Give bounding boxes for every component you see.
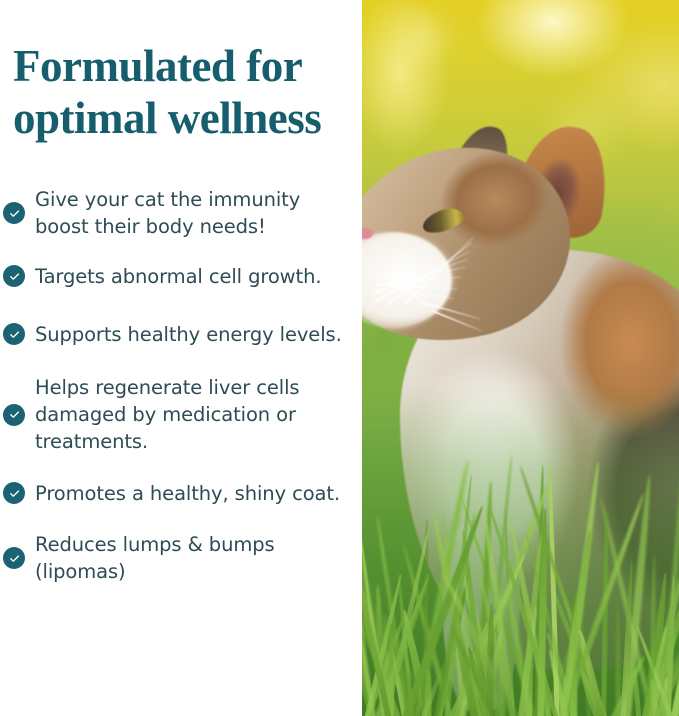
list-item-label: Supports healthy energy levels. [35,321,362,348]
cat-photo-scene [362,0,679,716]
list-item: Targets abnormal cell growth. [0,256,362,296]
page-title-line-1: Formulated for [13,40,353,92]
list-item-label: Targets abnormal cell growth. [35,263,362,290]
check-circle-icon [3,323,25,345]
list-item: Helps regenerate liver cells damaged by … [0,374,362,455]
list-item-label: Give your cat the immunity boost their b… [35,186,362,240]
grass-foreground [362,386,679,716]
page-title-line-2: optimal wellness [13,92,353,144]
product-benefits-panel: Formulated for optimal wellness Give you… [0,0,679,716]
list-item: Give your cat the immunity boost their b… [0,186,362,240]
check-circle-icon [3,404,25,426]
cat-photo [362,0,679,716]
check-circle-icon [3,265,25,287]
list-item-label: Promotes a healthy, shiny coat. [35,480,362,507]
check-circle-icon [3,547,25,569]
check-circle-icon [3,482,25,504]
list-item: Reduces lumps & bumps (lipomas) [0,531,362,585]
check-circle-icon [3,202,25,224]
list-item-label: Helps regenerate liver cells damaged by … [35,374,362,455]
list-item: Promotes a healthy, shiny coat. [0,473,362,513]
list-item-label: Reduces lumps & bumps (lipomas) [35,531,362,585]
benefits-list: Give your cat the immunity boost their b… [0,186,362,585]
left-text-panel: Formulated for optimal wellness Give you… [0,0,362,716]
list-item: Supports healthy energy levels. [0,314,362,354]
page-title: Formulated for optimal wellness [13,40,353,144]
